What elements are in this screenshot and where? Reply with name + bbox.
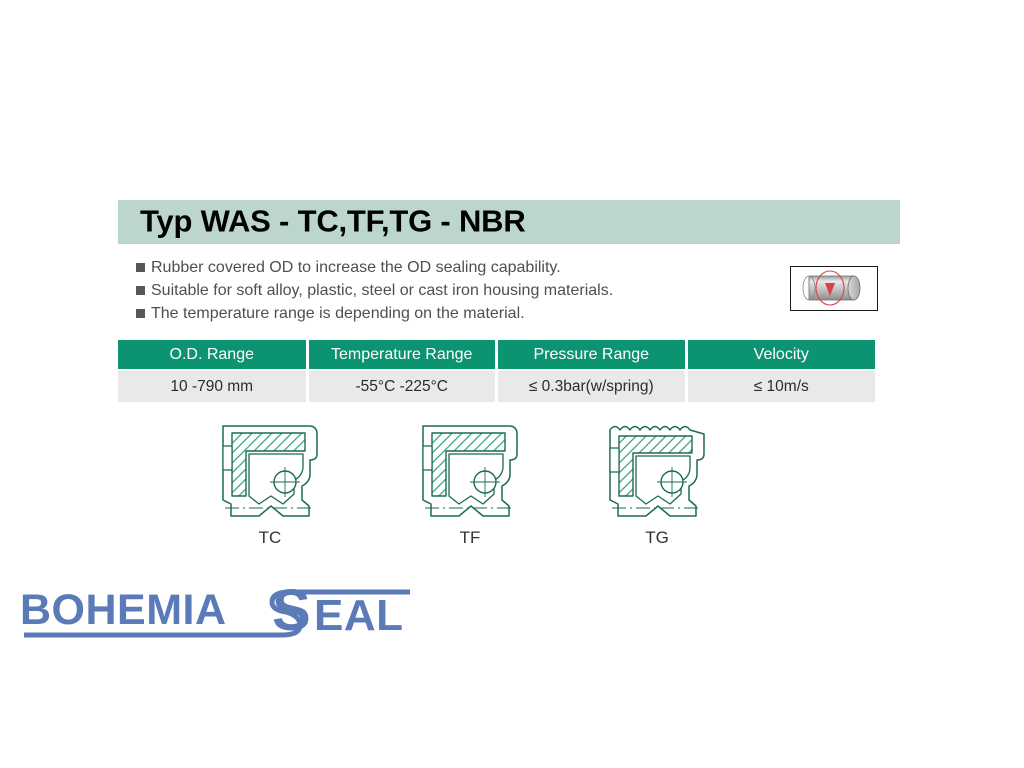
list-item-label: Rubber covered OD to increase the OD sea… (151, 256, 561, 279)
seal-label-tf: TF (405, 528, 535, 548)
seal-diagram-tg: TG (592, 420, 722, 540)
page-title: Typ WAS - TC,TF,TG - NBR (140, 203, 526, 239)
table-cell: ≤ 0.3bar(w/spring) (498, 371, 685, 402)
seal-cross-section-tf (405, 420, 535, 528)
list-item-label: Suitable for soft alloy, plastic, steel … (151, 279, 613, 302)
list-item-label: The temperature range is depending on th… (151, 302, 525, 325)
table-header-cell: Velocity (688, 340, 876, 369)
title-banner: Typ WAS - TC,TF,TG - NBR (118, 200, 900, 244)
table-header-cell: O.D. Range (118, 340, 306, 369)
bullet-square-icon (136, 263, 145, 272)
seal-diagram-tf: TF (405, 420, 535, 540)
table-header-cell: Pressure Range (498, 340, 685, 369)
table-row: 10 -790 mm -55°C -225°C ≤ 0.3bar(w/sprin… (118, 371, 875, 402)
list-item: The temperature range is depending on th… (136, 302, 756, 325)
seal-cross-section-tg (592, 420, 722, 528)
seal-cross-section-tc (205, 420, 335, 528)
table-cell: ≤ 10m/s (688, 371, 876, 402)
feature-list: Rubber covered OD to increase the OD sea… (136, 256, 756, 325)
logo-artwork: BOHEMIA S EAL (14, 578, 414, 644)
list-item: Rubber covered OD to increase the OD sea… (136, 256, 756, 279)
logo-text-eal: EAL (314, 591, 404, 640)
specification-table: O.D. Range Temperature Range Pressure Ra… (118, 340, 875, 402)
seal-label-tc: TC (205, 528, 335, 548)
logo-text-bohemia: BOHEMIA (20, 586, 227, 634)
bullet-square-icon (136, 286, 145, 295)
rotating-shaft-icon (791, 267, 876, 309)
table-header-row: O.D. Range Temperature Range Pressure Ra… (118, 340, 875, 369)
seal-label-tg: TG (592, 528, 722, 548)
bohemia-seal-logo: BOHEMIA S EAL (14, 578, 414, 644)
rotating-shaft-icon-box (790, 266, 878, 311)
list-item: Suitable for soft alloy, plastic, steel … (136, 279, 756, 302)
table-cell: -55°C -225°C (309, 371, 496, 402)
seal-diagram-tc: TC (205, 420, 335, 540)
table-header-cell: Temperature Range (309, 340, 496, 369)
table-cell: 10 -790 mm (118, 371, 306, 402)
bullet-square-icon (136, 309, 145, 318)
